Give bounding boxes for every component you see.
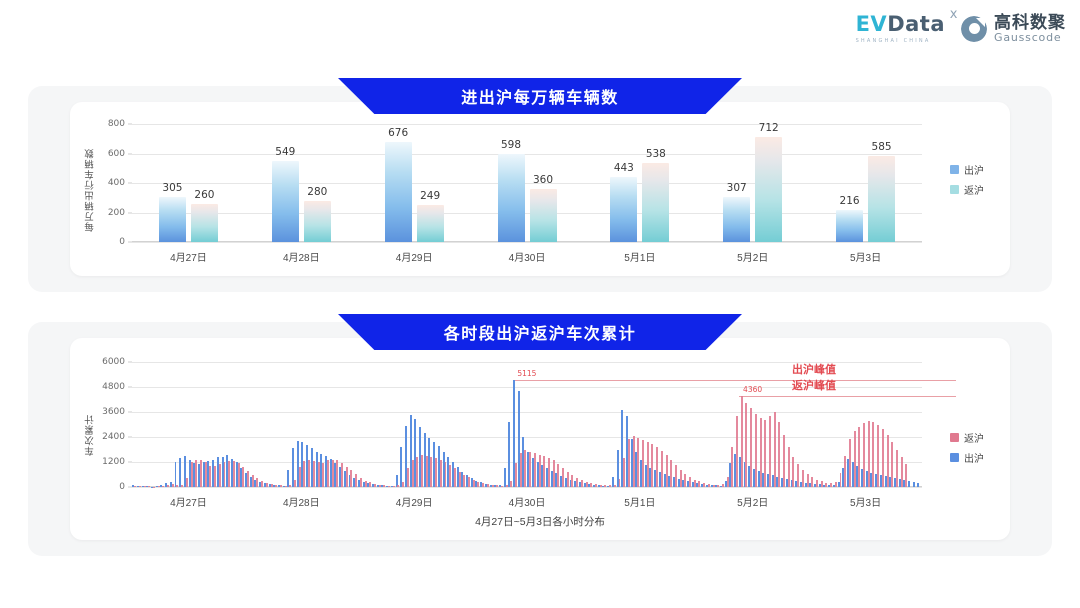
hourly-bar-ret <box>195 460 197 487</box>
hourly-bar-ret <box>144 486 146 487</box>
hourly-bar-ret <box>877 425 879 488</box>
hourly-bar-ret <box>445 462 447 487</box>
hourly-bar-ret <box>383 485 385 487</box>
hourly-bar-ret <box>435 458 437 487</box>
x-axis-tick-label: 4月28日 <box>283 249 320 264</box>
hourly-bar-ret <box>397 485 399 487</box>
bar-value-label: 712 <box>759 122 779 134</box>
hourly-bar-ret <box>303 461 305 487</box>
legend-label: 返沪 <box>964 182 984 197</box>
hourly-bar-ret <box>219 464 221 487</box>
hourly-bar-ret <box>473 480 475 487</box>
gridline <box>132 437 922 438</box>
x-axis-tick-label: 5月2日 <box>737 249 768 264</box>
hourly-bar-ret <box>271 484 273 487</box>
hourly-bar-ret <box>534 453 536 487</box>
hourly-bar-ret <box>760 418 762 487</box>
bar-chart-plot-area: 02004006008003052604月27日5492804月28日67624… <box>132 124 922 242</box>
bar-value-label: 216 <box>840 195 860 207</box>
hourly-bar-ret <box>548 458 550 487</box>
y-axis-tick-mark <box>128 437 132 438</box>
hourly-bar-out <box>175 462 177 487</box>
hourly-bar-ret <box>524 450 526 488</box>
hourly-bar-ret <box>703 483 705 487</box>
gridline <box>132 154 922 155</box>
bar-出沪-5月2日: 307 <box>723 197 750 242</box>
annotation-line-ret-peak <box>739 396 956 397</box>
panel-hourly-cumulative: 0120024003600480060004月27日4月28日4月29日4月30… <box>28 322 1052 556</box>
hourly-bar-ret <box>633 436 635 487</box>
hourly-bar-ret <box>336 460 338 487</box>
hourly-bar-ret <box>684 474 686 487</box>
hourly-bar-ret <box>186 478 188 487</box>
hourly-bar-ret <box>811 477 813 487</box>
hourly-bar-ret <box>783 435 785 487</box>
hourly-bar-ret <box>492 485 494 487</box>
hourly-bar-ret <box>637 438 639 487</box>
hourly-bar-ret <box>604 485 606 487</box>
hourly-bar-ret <box>299 467 301 487</box>
hourly-bar-ret <box>713 485 715 488</box>
hourly-bar-ret <box>332 460 334 488</box>
bar-返沪-4月27日: 260 <box>191 204 218 242</box>
hourly-bar-ret <box>872 422 874 487</box>
gridline <box>132 242 922 243</box>
hourly-bar-ret <box>543 456 545 487</box>
hourly-bar-ret <box>576 478 578 487</box>
x-axis-tick-label: 5月3日 <box>850 494 881 509</box>
hourly-bar-ret <box>256 478 258 487</box>
hourly-bar-ret <box>191 462 193 487</box>
hourly-bar-out <box>908 481 910 487</box>
legend-item: 出沪 <box>950 162 984 177</box>
hourly-bar-ret <box>901 457 903 487</box>
hourly-bar-ret <box>557 464 559 487</box>
hourly-bar-ret <box>238 463 240 487</box>
hourly-bar-ret <box>882 429 884 487</box>
legend-swatch-0 <box>950 433 959 442</box>
hourly-bar-ret <box>322 463 324 487</box>
bar-value-label: 549 <box>275 146 295 158</box>
bar-返沪-5月1日: 538 <box>642 163 669 242</box>
hourly-bar-ret <box>430 457 432 487</box>
annotation-value-out-peak: 5115 <box>517 369 536 378</box>
hourly-bar-ret <box>854 431 856 487</box>
hourly-bar-ret <box>539 455 541 488</box>
hourly-bar-ret <box>849 439 851 487</box>
evdata-superscript: x <box>950 8 958 21</box>
hourly-bar-ret <box>741 396 743 487</box>
bar-value-label: 676 <box>388 127 408 139</box>
hourly-bar-ret <box>167 485 169 488</box>
legend-item: 出沪 <box>950 450 984 465</box>
hourly-bar-ret <box>318 462 320 487</box>
hourly-bar-ret <box>887 435 889 487</box>
hourly-bar-ret <box>835 482 837 487</box>
y-axis-tick-label: 1200 <box>102 457 125 467</box>
hourly-bar-ret <box>242 467 244 487</box>
hourly-bar-ret <box>393 486 395 487</box>
x-axis-tick-label: 4月27日 <box>170 494 207 509</box>
gridline <box>132 412 922 413</box>
hourly-bar-ret <box>614 485 616 487</box>
hourly-bar-ret <box>468 477 470 487</box>
hourly-bar-ret <box>294 480 296 487</box>
hourly-bar-out <box>917 483 919 487</box>
hourly-bar-ret <box>379 485 381 488</box>
y-axis-tick-label: 200 <box>108 208 125 218</box>
bar-出沪-5月3日: 216 <box>836 210 863 242</box>
hourly-bar-ret <box>896 450 898 488</box>
bar-value-label: 249 <box>420 190 440 202</box>
bar-返沪-5月3日: 585 <box>868 156 895 242</box>
hourly-bar-ret <box>388 486 390 487</box>
x-axis-tick-label: 5月3日 <box>850 249 881 264</box>
hourly-bar-out <box>179 458 181 487</box>
hourly-bar-ret <box>407 468 409 487</box>
hourly-bar-ret <box>661 451 663 487</box>
gausscode-mark-icon <box>961 16 987 42</box>
legend-item: 返沪 <box>950 182 984 197</box>
bar-value-label: 280 <box>307 186 327 198</box>
y-axis-tick-label: 400 <box>108 178 125 188</box>
y-axis-tick-mark <box>128 153 132 154</box>
hourly-bar-ret <box>346 467 348 487</box>
chart-card-1: 02004006008003052604月27日5492804月28日67624… <box>70 102 1010 276</box>
hourly-bar-ret <box>774 412 776 487</box>
hourly-bar-ret <box>313 461 315 487</box>
panel-vehicle-counts: 02004006008003052604月27日5492804月28日67624… <box>28 86 1052 292</box>
hourly-bar-ret <box>355 474 357 487</box>
chart2-title-ribbon: 各时段出沪返沪车次累计 <box>338 314 742 350</box>
chart1-y-axis-title: 每万辆出行车辆数 <box>84 132 98 232</box>
hourly-bar-ret <box>477 482 479 487</box>
hourly-bar-ret <box>567 472 569 487</box>
legend-swatch-0 <box>950 165 959 174</box>
hourly-bar-ret <box>858 427 860 487</box>
hourly-bar-ret <box>228 461 230 487</box>
hourly-bar-ret <box>416 457 418 487</box>
bar-返沪-4月28日: 280 <box>304 201 331 242</box>
hourly-bar-ret <box>736 416 738 487</box>
y-axis-tick-label: 6000 <box>102 357 125 367</box>
chart-card-2: 0120024003600480060004月27日4月28日4月29日4月30… <box>70 338 1010 540</box>
bar-出沪-4月28日: 549 <box>272 161 299 242</box>
hourly-bar-ret <box>289 485 291 487</box>
y-axis-tick-mark <box>128 462 132 463</box>
hourly-bar-ret <box>172 484 174 487</box>
chart1-title-ribbon: 进出沪每万辆车辆数 <box>338 78 742 114</box>
y-axis-tick-mark <box>128 183 132 184</box>
bar-出沪-4月27日: 305 <box>159 197 186 242</box>
hourly-bar-ret <box>449 465 451 487</box>
hourly-bar-ret <box>656 447 658 487</box>
hourly-bar-ret <box>600 485 602 487</box>
bar-value-label: 260 <box>194 189 214 201</box>
bar-value-label: 585 <box>872 141 892 153</box>
hourly-bar-ret <box>402 482 404 487</box>
hourly-bar-ret <box>609 485 611 487</box>
hourly-bar-ret <box>158 486 160 487</box>
hourly-bar-ret <box>440 460 442 487</box>
hourly-bar-ret <box>628 439 630 487</box>
hourly-bar-ret <box>562 468 564 487</box>
hourly-bar-ret <box>520 453 522 487</box>
hourly-bar-ret <box>482 483 484 487</box>
x-axis-tick-label: 4月29日 <box>396 494 433 509</box>
chart1-legend: 出沪返沪 <box>950 162 984 197</box>
chart2-title: 各时段出沪返沪车次累计 <box>444 320 637 344</box>
hourly-bar-ret <box>750 408 752 487</box>
x-axis-tick-label: 5月1日 <box>624 249 655 264</box>
hourly-bar-ret <box>722 484 724 487</box>
y-axis-tick-mark <box>128 212 132 213</box>
bar-返沪-5月2日: 712 <box>755 137 782 242</box>
y-axis-tick-label: 0 <box>119 482 125 492</box>
hourly-bar-ret <box>825 483 827 487</box>
hourly-bar-ret <box>840 473 842 487</box>
legend-swatch-1 <box>950 185 959 194</box>
bar-value-label: 307 <box>727 182 747 194</box>
y-axis-tick-label: 0 <box>119 237 125 247</box>
annotation-value-ret-peak: 4360 <box>743 385 762 394</box>
y-axis-tick-label: 600 <box>108 149 125 159</box>
hourly-bar-ret <box>308 460 310 487</box>
hourly-bar-ret <box>802 470 804 487</box>
bar-返沪-4月29日: 249 <box>417 205 444 242</box>
hourly-bar-ret <box>830 483 832 487</box>
hourly-bar-ret <box>680 470 682 487</box>
hourly-bar-ret <box>727 477 729 487</box>
hourly-bar-ret <box>807 474 809 487</box>
hourly-bar-ret <box>510 481 512 487</box>
hourly-bar-ret <box>647 442 649 487</box>
bar-出沪-4月29日: 676 <box>385 142 412 242</box>
hourly-bar-ret <box>454 468 456 487</box>
y-axis-tick-label: 2400 <box>102 432 125 442</box>
x-axis-line <box>132 241 922 242</box>
hourly-bar-ret <box>745 403 747 487</box>
x-axis-tick-label: 4月27日 <box>170 249 207 264</box>
gridline <box>132 124 922 125</box>
chart2-y-axis-title: 车次累计 <box>84 384 98 456</box>
hourly-bar-ret <box>463 475 465 488</box>
hourly-bar-ret <box>365 481 367 487</box>
hourly-bar-ret <box>176 485 178 487</box>
hourly-bar-ret <box>698 481 700 487</box>
hourly-bar-ret <box>595 484 597 487</box>
hourly-bar-ret <box>496 485 498 487</box>
hourly-bar-ret <box>619 479 621 487</box>
x-axis-tick-label: 5月1日 <box>624 494 655 509</box>
hourly-bar-ret <box>666 455 668 487</box>
hourly-bar-ret <box>689 477 691 487</box>
hourly-bar-ret <box>731 447 733 487</box>
hourly-bar-ret <box>769 416 771 487</box>
evdata-wordmark: EVData x <box>856 14 945 35</box>
hourly-bar-ret <box>261 481 263 487</box>
hourly-bar-ret <box>797 464 799 487</box>
hourly-bar-ret <box>412 460 414 487</box>
hourly-bar-ret <box>694 480 696 488</box>
hourly-bar-ret <box>360 478 362 487</box>
hourly-bar-ret <box>341 463 343 487</box>
x-axis-tick-label: 4月30日 <box>509 249 546 264</box>
gausscode-en-name: Gausscode <box>994 32 1066 44</box>
hourly-bar-ret <box>778 422 780 487</box>
hourly-bar-ret <box>233 461 235 487</box>
legend-item: 返沪 <box>950 430 984 445</box>
bar-返沪-4月30日: 360 <box>530 189 557 242</box>
hourly-bar-ret <box>350 470 352 487</box>
y-axis-tick-mark <box>128 387 132 388</box>
hourly-bar-ret <box>816 480 818 487</box>
x-axis-tick-label: 5月2日 <box>737 494 768 509</box>
bar-出沪-4月30日: 598 <box>498 154 525 242</box>
hourly-bar-ret <box>844 456 846 487</box>
bar-value-label: 598 <box>501 139 521 151</box>
y-axis-tick-label: 3600 <box>102 407 125 417</box>
hourly-bar-ret <box>590 483 592 487</box>
hourly-bar-ret <box>421 455 423 487</box>
legend-swatch-1 <box>950 453 959 462</box>
annotation-label-ret-peak: 返沪峰值 <box>792 377 836 393</box>
legend-label: 返沪 <box>964 430 984 445</box>
hourly-bar-ret <box>374 484 376 487</box>
brand-logos: EVData x SHANGHAI CHINA 高科数聚 Gausscode <box>856 14 1066 44</box>
gridline <box>132 183 922 184</box>
bar-value-label: 443 <box>614 162 634 174</box>
hourly-bar-ret <box>285 486 287 487</box>
bar-出沪-5月1日: 443 <box>610 177 637 242</box>
hourly-bar-out <box>508 422 510 487</box>
hourly-bar-ret <box>670 460 672 487</box>
hourly-bar-ret <box>821 481 823 487</box>
y-axis-tick-label: 800 <box>108 119 125 129</box>
hourly-bar-ret <box>148 486 150 487</box>
hourly-bar-ret <box>501 486 503 487</box>
hourly-bar-ret <box>755 414 757 487</box>
hourly-bar-ret <box>642 440 644 487</box>
hourly-bar-ret <box>369 482 371 487</box>
hourly-bar-ret <box>266 483 268 487</box>
gausscode-cn-name: 高科数聚 <box>994 14 1066 32</box>
hourly-bar-ret <box>224 462 226 487</box>
hourly-bar-ret <box>863 423 865 487</box>
hourly-bar-ret <box>792 457 794 487</box>
hourly-bar-ret <box>247 471 249 487</box>
y-axis-tick-mark <box>128 362 132 363</box>
hourly-bar-ret <box>459 472 461 487</box>
y-axis-tick-mark <box>128 412 132 413</box>
hourly-bar-ret <box>209 466 211 487</box>
hourly-bar-ret <box>515 463 517 487</box>
chart2-x-axis-title: 4月27日~5月3日各小时分布 <box>475 514 605 529</box>
hourly-bar-ret <box>675 465 677 487</box>
hourly-bar-ret <box>905 464 907 487</box>
hourly-bar-ret <box>280 485 282 487</box>
hourly-bar-ret <box>487 484 489 487</box>
hourly-bar-ret <box>162 486 164 487</box>
hourly-bar-ret <box>275 485 277 487</box>
x-axis-tick-label: 4月28日 <box>283 494 320 509</box>
brand-header: EVData x SHANGHAI CHINA 高科数聚 Gausscode <box>0 0 1080 62</box>
hourly-bar-ret <box>571 475 573 487</box>
legend-label: 出沪 <box>964 162 984 177</box>
hourly-bar-ret <box>327 460 329 487</box>
gausscode-logo: 高科数聚 Gausscode <box>961 14 1066 43</box>
annotation-label-out-peak: 出沪峰值 <box>792 361 836 377</box>
hourly-bar-ret <box>426 456 428 487</box>
hourly-bar-ret <box>139 486 141 487</box>
hourly-bar-ret <box>788 447 790 487</box>
hourly-bar-ret <box>586 482 588 487</box>
hourly-bar-ret <box>891 442 893 487</box>
hourly-bar-ret <box>134 486 136 487</box>
hourly-bar-ret <box>181 485 183 487</box>
bar-value-label: 538 <box>646 148 666 160</box>
hourly-chart-plot-area: 0120024003600480060004月27日4月28日4月29日4月30… <box>132 362 922 487</box>
hourly-bar-ret <box>868 421 870 487</box>
gridline <box>132 487 922 488</box>
annotation-line-out-peak <box>513 380 956 381</box>
hourly-bar-ret <box>205 462 207 487</box>
hourly-bar-ret <box>214 466 216 487</box>
hourly-bar-ret <box>529 452 531 487</box>
legend-label: 出沪 <box>964 450 984 465</box>
hourly-bar-ret <box>651 444 653 487</box>
bar-value-label: 305 <box>162 182 182 194</box>
evdata-tagline: SHANGHAI CHINA <box>856 38 931 44</box>
hourly-bar-ret <box>764 420 766 487</box>
hourly-bar-ret <box>623 458 625 487</box>
hourly-bar-ret <box>553 460 555 487</box>
hourly-bar-ret <box>708 484 710 487</box>
chart1-title: 进出沪每万辆车辆数 <box>461 84 619 108</box>
hourly-bar-ret <box>581 480 583 487</box>
x-axis-tick-label: 4月30日 <box>509 494 546 509</box>
gridline <box>132 213 922 214</box>
evdata-logo: EVData x SHANGHAI CHINA <box>856 14 945 44</box>
hourly-bar-ret <box>506 485 508 487</box>
bar-value-label: 360 <box>533 174 553 186</box>
x-axis-tick-label: 4月29日 <box>396 249 433 264</box>
hourly-bar-out <box>913 482 915 487</box>
hourly-bar-ret <box>252 475 254 487</box>
hourly-bar-ret <box>200 460 202 487</box>
hourly-bar-ret <box>717 485 719 487</box>
chart2-legend: 返沪出沪 <box>950 430 984 465</box>
y-axis-tick-label: 4800 <box>102 382 125 392</box>
y-axis-tick-mark <box>128 124 132 125</box>
